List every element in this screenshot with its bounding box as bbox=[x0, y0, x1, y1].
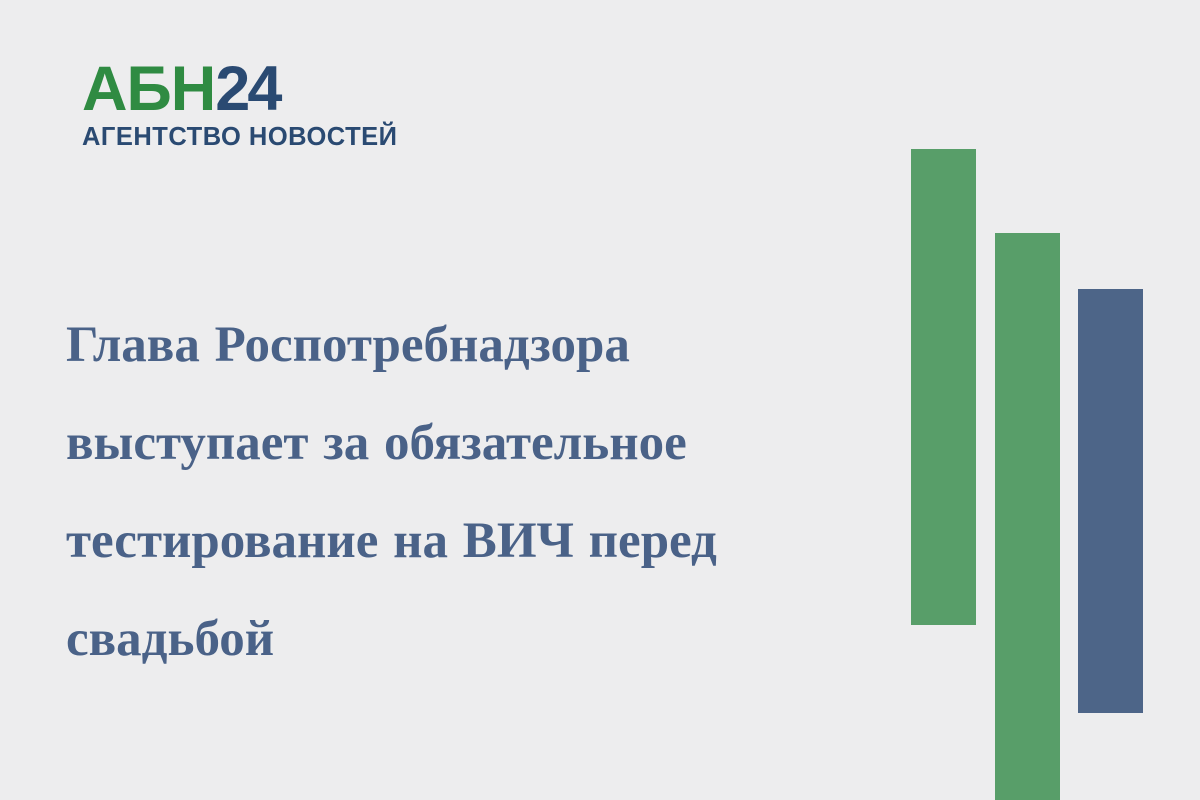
headline-line-1: Глава Роспотребнадзора bbox=[66, 296, 896, 394]
logo-wordmark: АБН24 bbox=[82, 58, 372, 120]
headline: Глава Роспотребнадзора выступает за обяз… bbox=[66, 296, 896, 688]
headline-line-3: тестирование на ВИЧ перед bbox=[66, 492, 896, 590]
logo-wordmark-abn: АБН bbox=[82, 54, 215, 124]
headline-line-2: выступает за обязательное bbox=[66, 394, 896, 492]
bar-1 bbox=[911, 149, 976, 625]
site-logo[interactable]: АБН24 АГЕНТСТВО НОВОСТЕЙ bbox=[82, 58, 372, 158]
headline-line-4: свадьбой bbox=[66, 590, 896, 688]
bar-2 bbox=[995, 233, 1060, 800]
news-card: АБН24 АГЕНТСТВО НОВОСТЕЙ Глава Роспотреб… bbox=[0, 0, 1200, 800]
bar-3 bbox=[1078, 289, 1143, 713]
logo-wordmark-24: 24 bbox=[215, 54, 279, 124]
logo-tagline: АГЕНТСТВО НОВОСТЕЙ bbox=[82, 123, 372, 152]
